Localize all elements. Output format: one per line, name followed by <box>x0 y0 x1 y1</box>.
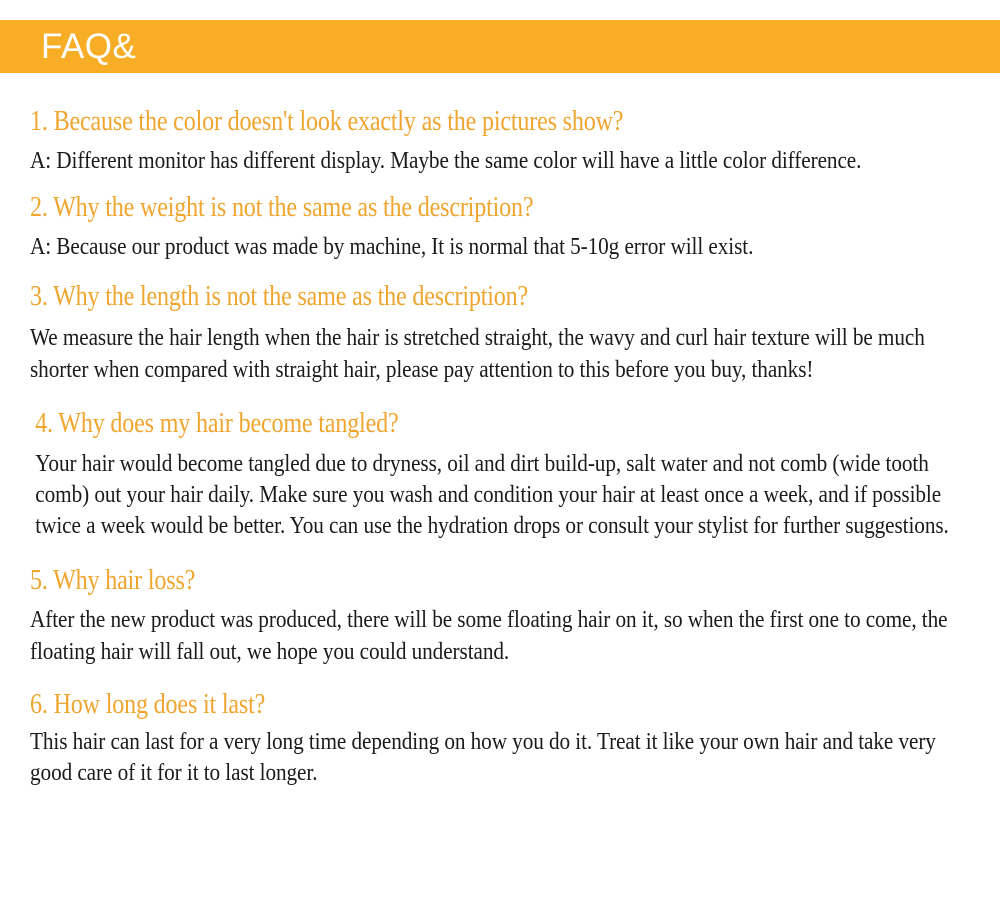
faq-page: FAQ& 1. Because the color doesn't look e… <box>0 0 1000 897</box>
faq-header-bar: FAQ& <box>0 20 1000 73</box>
faq-answer-1: A: Different monitor has different displ… <box>30 146 968 177</box>
faq-answer-3: We measure the hair length when the hair… <box>30 323 968 385</box>
faq-item-2: 2. Why the weight is not the same as the… <box>30 191 972 263</box>
faq-question-2: 2. Why the weight is not the same as the… <box>30 191 840 224</box>
faq-question-4: 4. Why does my hair become tangled? <box>30 407 840 440</box>
faq-answer-6: This hair can last for a very long time … <box>30 727 968 789</box>
faq-item-6: 6. How long does it last? This hair can … <box>30 688 972 789</box>
faq-list: 1. Because the color doesn't look exactl… <box>0 73 1000 789</box>
page-title: FAQ& <box>0 29 136 64</box>
faq-item-1: 1. Because the color doesn't look exactl… <box>30 105 972 177</box>
faq-question-5: 5. Why hair loss? <box>30 564 840 597</box>
faq-item-4: 4. Why does my hair become tangled? Your… <box>30 407 972 543</box>
faq-item-5: 5. Why hair loss? After the new product … <box>30 564 972 667</box>
faq-question-6: 6. How long does it last? <box>30 688 840 721</box>
faq-answer-5: After the new product was produced, ther… <box>30 605 968 667</box>
faq-question-3: 3. Why the length is not the same as the… <box>30 280 840 313</box>
faq-item-3: 3. Why the length is not the same as the… <box>30 280 972 385</box>
faq-answer-2: A: Because our product was made by machi… <box>30 232 968 263</box>
faq-answer-4: Your hair would become tangled due to dr… <box>30 449 968 543</box>
faq-question-1: 1. Because the color doesn't look exactl… <box>30 105 840 138</box>
